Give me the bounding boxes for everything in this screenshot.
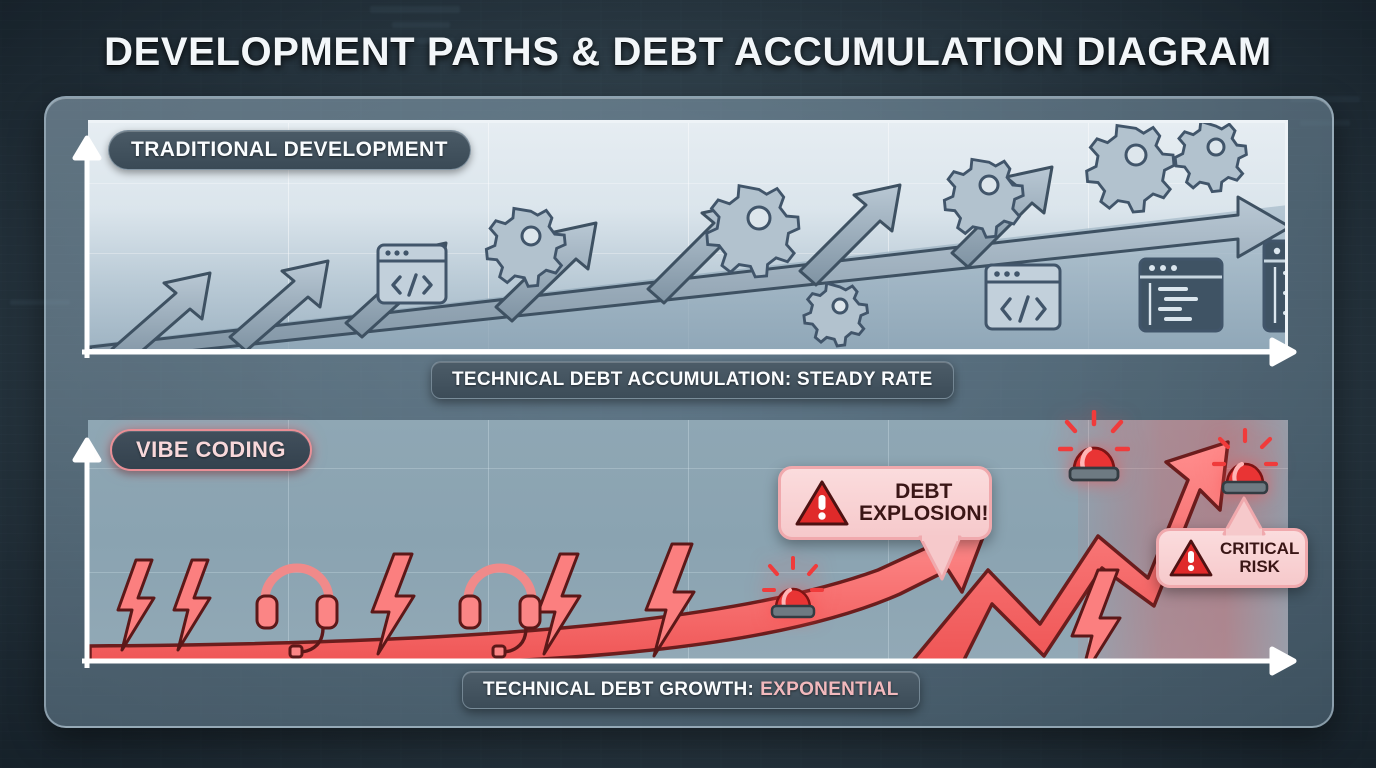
debt-explosion-line-2: EXPLOSION! <box>859 502 989 525</box>
traditional-development-badge[interactable]: TRADITIONAL DEVELOPMENT <box>108 130 471 170</box>
debt-explosion-callout-text: DEBT EXPLOSION! <box>859 481 989 526</box>
alarm-siren-icon <box>762 556 824 622</box>
alarm-siren-icon <box>1212 428 1278 500</box>
critical-risk-line-2: RISK <box>1239 557 1280 576</box>
debt-explosion-callout-tail <box>918 535 978 586</box>
vibe-coding-badge[interactable]: VIBE CODING <box>110 429 312 471</box>
traditional-footer-label-text: TECHNICAL DEBT ACCUMULATION: STEADY RATE <box>452 369 933 391</box>
alarm-siren-icon <box>1058 410 1130 486</box>
diagram-canvas: DEVELOPMENT PATHS & DEBT ACCUMULATION DI… <box>0 0 1376 768</box>
debt-explosion-callout[interactable]: DEBT EXPLOSION! <box>778 466 992 540</box>
exponential-curve-arrow-icon <box>90 524 988 660</box>
vibe-footer-label-main: TECHNICAL DEBT GROWTH: <box>483 679 754 701</box>
vibe-footer-label: TECHNICAL DEBT GROWTH: EXPONENTIAL <box>462 671 920 709</box>
warning-triangle-icon <box>1169 538 1213 578</box>
critical-risk-callout-tail <box>1222 496 1266 541</box>
vibe-coding-badge-label: VIBE CODING <box>136 437 286 463</box>
vibe-footer-label-accent: EXPONENTIAL <box>760 679 898 701</box>
traditional-footer-label: TECHNICAL DEBT ACCUMULATION: STEADY RATE <box>431 361 954 399</box>
critical-risk-line-1: CRITICAL <box>1220 539 1299 558</box>
page-title: DEVELOPMENT PATHS & DEBT ACCUMULATION DI… <box>0 30 1376 75</box>
debt-explosion-line-1: DEBT <box>895 480 952 503</box>
warning-triangle-icon <box>795 479 849 527</box>
traditional-y-axis <box>72 128 102 358</box>
code-file-icon <box>1140 241 1288 331</box>
vibe-y-axis <box>72 430 102 668</box>
critical-risk-callout-text: CRITICAL RISK <box>1220 540 1299 576</box>
traditional-development-badge-label: TRADITIONAL DEVELOPMENT <box>131 138 448 162</box>
